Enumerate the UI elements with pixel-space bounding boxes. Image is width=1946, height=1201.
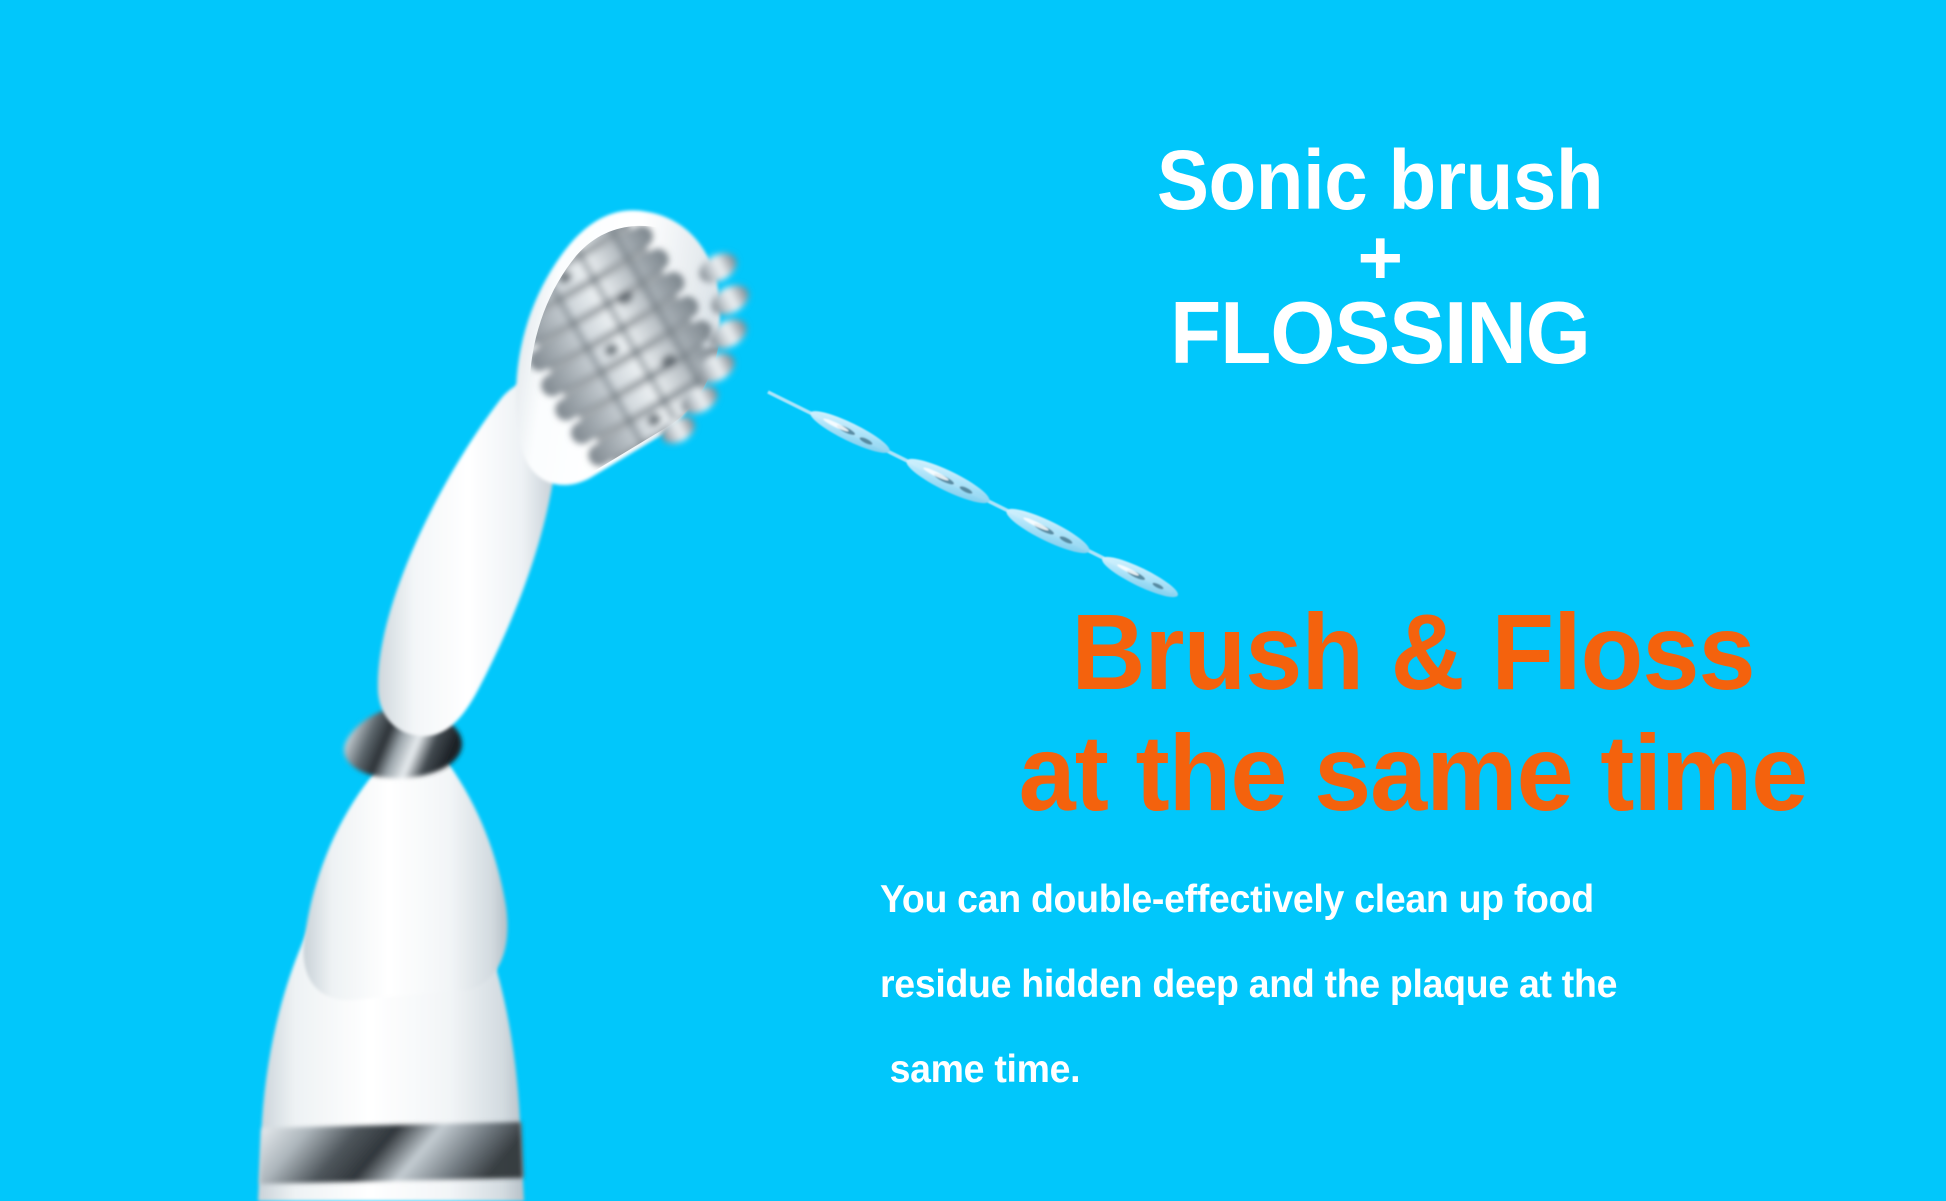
body-copy-block: You can double-effectively clean up food… bbox=[880, 880, 1880, 1135]
headline-line-flossing: FLOSSING bbox=[905, 291, 1855, 375]
headline-block: Sonic brush + FLOSSING bbox=[880, 140, 1880, 376]
brush-body bbox=[303, 742, 507, 1000]
subhead-block: Brush & Floss at the same time bbox=[880, 592, 1946, 834]
headline-line-sonic-brush: Sonic brush bbox=[915, 140, 1845, 221]
copy-column: Sonic brush + FLOSSING Brush & Floss at … bbox=[880, 0, 1946, 1201]
body-copy-line-3: same time. bbox=[880, 1050, 1840, 1089]
product-photo bbox=[0, 0, 980, 1201]
body-copy-line-1: You can double-effectively clean up food bbox=[880, 880, 1840, 919]
headline-plus-sign: + bbox=[880, 227, 1880, 288]
poster-canvas: Sonic brush + FLOSSING Brush & Floss at … bbox=[0, 0, 1946, 1201]
subhead-line-brush-and-floss: Brush & Floss bbox=[907, 592, 1920, 713]
body-copy-line-2: residue hidden deep and the plaque at th… bbox=[880, 965, 1840, 1004]
subhead-line-at-the-same-time: at the same time bbox=[907, 713, 1920, 834]
handle-chrome-ring-lower bbox=[260, 1122, 523, 1184]
